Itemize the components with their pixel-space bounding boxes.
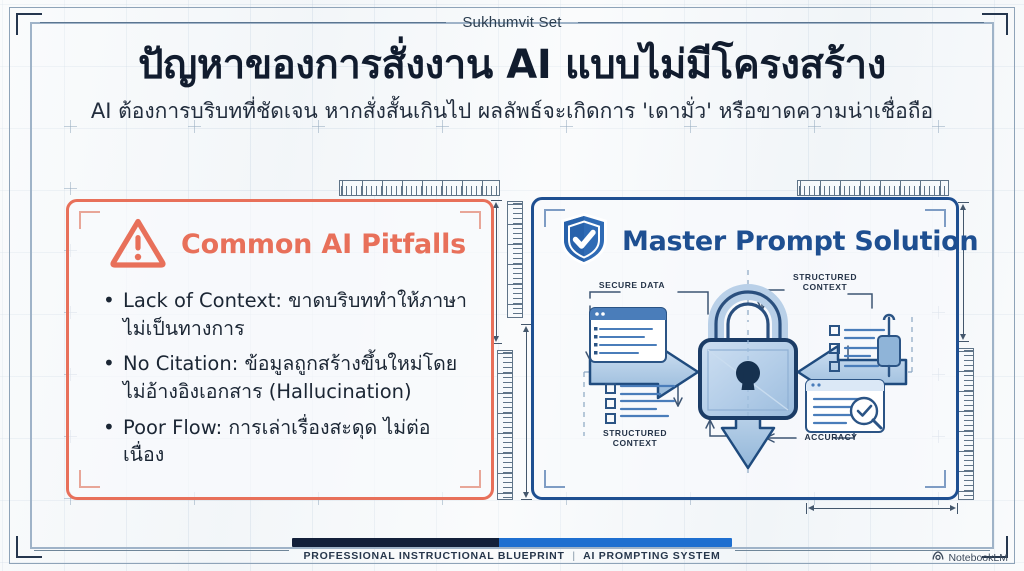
dimension-line-bottom — [806, 503, 958, 514]
brand-label: NotebookLM — [948, 552, 1008, 564]
diagram-label-secure-data: SECURE DATA — [584, 280, 680, 290]
ruler-horizontal-left — [339, 180, 500, 196]
eyebrow-label: Sukhumvit Set — [462, 14, 561, 31]
page-title: ปัญหาของการสั่งงาน AI แบบไม่มีโครงสร้าง — [46, 42, 978, 88]
ruler-vertical-upper — [507, 201, 523, 318]
dimension-line-right — [958, 202, 969, 342]
footer-caption-left: PROFESSIONAL INSTRUCTIONAL BLUEPRINT — [304, 550, 565, 562]
frame-corner-top-left — [16, 13, 42, 35]
diagram-label-structured-context-top: STRUCTURED CONTEXT — [786, 272, 864, 293]
notebooklm-logo-icon — [932, 550, 944, 565]
pitfalls-panel: Common AI Pitfalls Lack of Context: ขาดบ… — [66, 199, 494, 500]
footer-progress-bar — [292, 538, 732, 547]
title-block: ปัญหาของการสั่งงาน AI แบบไม่มีโครงสร้าง … — [46, 42, 978, 125]
frame-corner-top-right — [982, 13, 1008, 35]
panel-corner-top-left — [79, 211, 100, 229]
eyebrow-rule-right — [578, 22, 984, 23]
solution-panel: Master Prompt Solution — [531, 197, 959, 500]
footer-caption-right: AI PROMPTING SYSTEM — [583, 550, 720, 562]
solution-title: Master Prompt Solution — [622, 226, 978, 257]
list-item: No Citation: ข้อมูลถูกสร้างขึ้นใหม่โดยไม… — [99, 350, 471, 405]
warning-triangle-icon — [109, 216, 167, 273]
pitfalls-header: Common AI Pitfalls — [109, 216, 469, 273]
slide-canvas: Sukhumvit Set ปัญหาของการสั่งงาน AI แบบไ… — [0, 0, 1024, 571]
pitfalls-title: Common AI Pitfalls — [181, 229, 466, 260]
footer-progress-blue — [499, 538, 732, 547]
ruler-vertical-right — [958, 348, 974, 500]
eyebrow-rule-left — [40, 22, 446, 23]
ruler-horizontal-right — [797, 180, 949, 196]
list-item: Lack of Context: ขาดบริบททำให้ภาษาไม่เป็… — [99, 287, 471, 342]
footer-caption: PROFESSIONAL INSTRUCTIONAL BLUEPRINT | A… — [0, 550, 1024, 562]
footer-progress-dark — [292, 538, 499, 547]
pitfalls-list: Lack of Context: ขาดบริบททำให้ภาษาไม่เป็… — [99, 287, 471, 477]
list-item: Poor Flow: การเล่าเรื่องสะดุด ไม่ต่อเนื่… — [99, 414, 471, 469]
page-subtitle: AI ต้องการบริบทที่ชัดเจน หากสั่งสั้นเกิน… — [46, 98, 978, 124]
solution-header: Master Prompt Solution — [558, 211, 942, 272]
ruler-vertical-lower — [497, 350, 513, 500]
shield-check-icon — [558, 211, 610, 272]
footer-caption-separator: | — [568, 550, 579, 562]
diagram-label-structured-context-bottom: STRUCTURED CONTEXT — [594, 428, 676, 449]
panel-corner-bottom-left — [79, 470, 100, 488]
diagram-label-accuracy: ACCURACY — [796, 432, 866, 442]
solution-diagram: SECURE DATA STRUCTURED CONTEXT STRUCTURE… — [548, 268, 948, 480]
header-eyebrow: Sukhumvit Set — [40, 11, 984, 33]
brand-mark: NotebookLM — [932, 550, 1008, 565]
